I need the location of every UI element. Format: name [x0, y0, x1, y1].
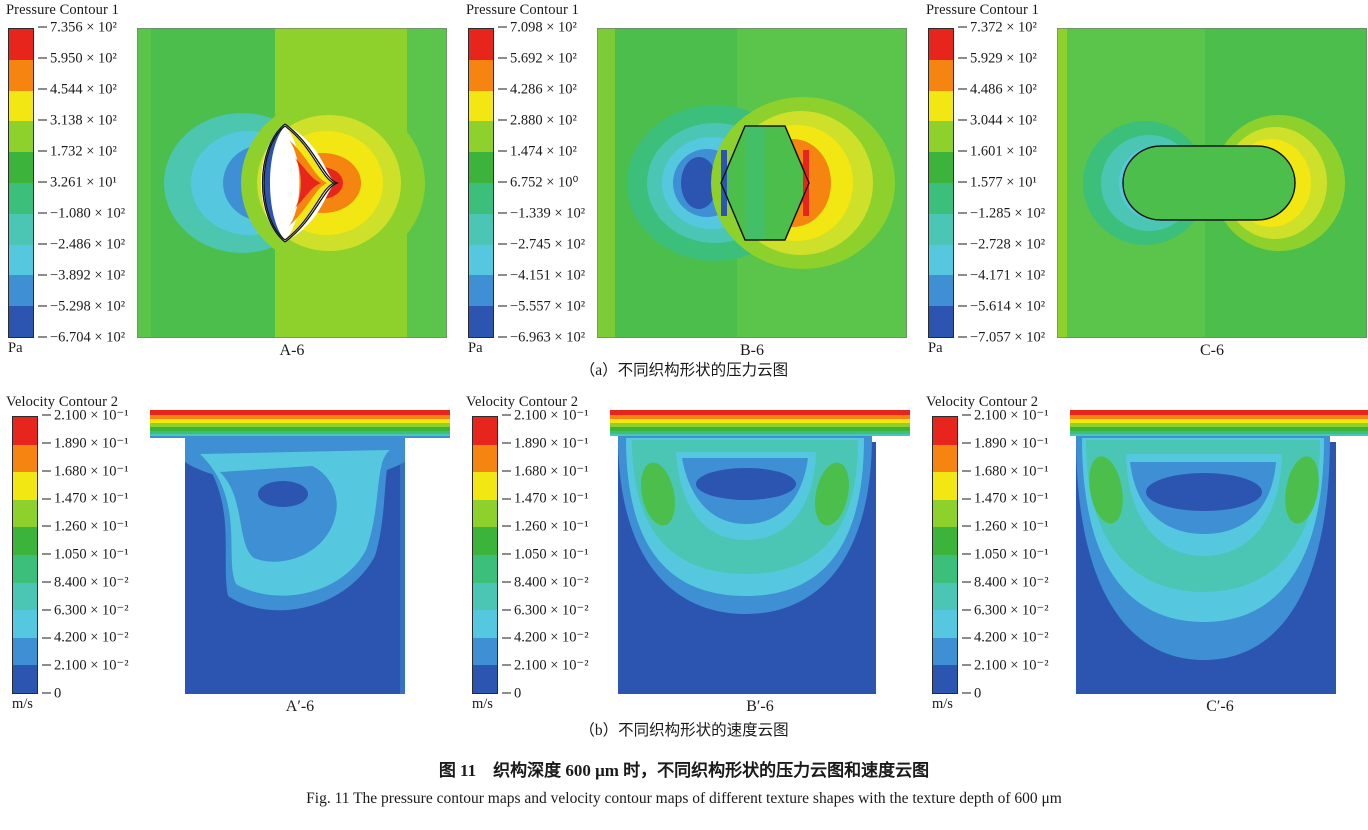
colorbar-tick: 7.098 × 10² — [510, 20, 577, 36]
colorbar-tick: −4.151 × 10² — [510, 268, 585, 284]
velocity-plot-a6 — [150, 406, 450, 696]
colorbar-tick: 3.138 × 10² — [50, 113, 117, 129]
colorbar-tick: 1.577 × 10¹ — [970, 175, 1037, 191]
colorbar-tick: 4.200 × 10⁻² — [514, 630, 589, 646]
colorbar-tick: 2.880 × 10² — [510, 113, 577, 129]
colorbar-tick: 2.100 × 10⁻¹ — [974, 408, 1049, 424]
colorbar-tick: 7.372 × 10² — [970, 20, 1037, 36]
colorbar-tick: 1.470 × 10⁻¹ — [514, 491, 589, 507]
colorbar-tick: 1.680 × 10⁻¹ — [974, 463, 1049, 479]
colorbar-tick: 4.544 × 10² — [50, 82, 117, 98]
colorbar-swatches — [468, 28, 494, 338]
row-caption-b: （b）不同织构形状的速度云图 — [0, 718, 1368, 740]
colorbar-tick: 0 — [514, 686, 521, 702]
sublabel-c-prime-6: C′-6 — [1070, 698, 1368, 716]
colorbar-tick: 1.890 × 10⁻¹ — [514, 435, 589, 451]
colorbar-tick: 0 — [974, 686, 981, 702]
colorbar-tick: 5.692 × 10² — [510, 51, 577, 67]
figure-caption-english: Fig. 11 The pressure contour maps and ve… — [0, 790, 1368, 808]
colorbar-tick: 1.470 × 10⁻¹ — [974, 491, 1049, 507]
colorbar-tick: 1.050 × 10⁻¹ — [54, 547, 129, 563]
colorbar-tick: −5.298 × 10² — [50, 299, 125, 315]
colorbar-tick: 1.050 × 10⁻¹ — [514, 547, 589, 563]
colorbar-tick: 8.400 × 10⁻² — [974, 574, 1049, 590]
colorbar-tick: 6.300 × 10⁻² — [514, 602, 589, 618]
colorbar-tick: 8.400 × 10⁻² — [514, 574, 589, 590]
colorbar-tick: 1.260 × 10⁻¹ — [974, 519, 1049, 535]
colorbar-tick: −6.963 × 10² — [510, 330, 585, 346]
colorbar-tick: 1.050 × 10⁻¹ — [974, 547, 1049, 563]
contour-plot-c6 — [1057, 28, 1367, 338]
colorbar-tick: 2.100 × 10⁻² — [54, 658, 129, 674]
colorbar-tick: 3.044 × 10² — [970, 113, 1037, 129]
colorbar-unit: m/s — [472, 696, 493, 713]
colorbar-tick: 7.356 × 10² — [50, 20, 117, 36]
colorbar-tick: 4.200 × 10⁻² — [974, 630, 1049, 646]
colorbar-swatches — [12, 416, 38, 694]
colorbar-tick: −3.892 × 10² — [50, 268, 125, 284]
colorbar-tick: 2.100 × 10⁻¹ — [514, 408, 589, 424]
colorbar-tick: 3.261 × 10¹ — [50, 175, 117, 191]
colorbar-tick: −1.285 × 10² — [970, 206, 1045, 222]
colorbar-tick: 1.260 × 10⁻¹ — [54, 519, 129, 535]
colorbar-tick: 2.100 × 10⁻² — [974, 658, 1049, 674]
colorbar-swatches — [8, 28, 34, 338]
colorbar-tick: 4.200 × 10⁻² — [54, 630, 129, 646]
colorbar-tick: 5.929 × 10² — [970, 51, 1037, 67]
colorbar-swatches — [472, 416, 498, 694]
contour-plot-a6 — [137, 28, 447, 338]
colorbar-tick: −1.339 × 10² — [510, 206, 585, 222]
colorbar-tick: 1.890 × 10⁻¹ — [974, 435, 1049, 451]
velocity-plot-b6 — [610, 406, 910, 696]
colorbar-tick: 8.400 × 10⁻² — [54, 574, 129, 590]
colorbar-swatches — [928, 28, 954, 338]
row-caption-a: （a）不同织构形状的压力云图 — [0, 358, 1368, 380]
legend-title-pressure-b6: Pressure Contour 1 — [466, 2, 579, 19]
colorbar-unit: m/s — [12, 696, 33, 713]
colorbar-tick: 4.486 × 10² — [970, 82, 1037, 98]
colorbar-tick: 1.470 × 10⁻¹ — [54, 491, 129, 507]
sublabel-a-prime-6: A′-6 — [150, 698, 450, 716]
colorbar-tick: 1.890 × 10⁻¹ — [54, 435, 129, 451]
colorbar-tick: 1.601 × 10² — [970, 144, 1037, 160]
colorbar-tick: −2.745 × 10² — [510, 237, 585, 253]
colorbar-tick: 6.752 × 10⁰ — [510, 175, 578, 191]
colorbar-tick: 6.300 × 10⁻² — [974, 602, 1049, 618]
legend-title-pressure-c6: Pressure Contour 1 — [926, 2, 1039, 19]
colorbar-tick: 4.286 × 10² — [510, 82, 577, 98]
colorbar-tick: −2.486 × 10² — [50, 237, 125, 253]
colorbar-unit: Pa — [8, 340, 23, 357]
legend-title-pressure-a6: Pressure Contour 1 — [6, 2, 119, 19]
colorbar-unit: Pa — [468, 340, 483, 357]
figure-root: Pressure Contour 1 7.356 × 10² 5.950 × 1… — [0, 0, 1368, 830]
colorbar-unit: m/s — [932, 696, 953, 713]
contour-plot-b6 — [597, 28, 907, 338]
colorbar-tick: −2.728 × 10² — [970, 237, 1045, 253]
colorbar-tick: −6.704 × 10² — [50, 330, 125, 346]
colorbar-tick: 2.100 × 10⁻¹ — [54, 408, 129, 424]
colorbar-tick: 1.260 × 10⁻¹ — [514, 519, 589, 535]
colorbar-tick: −5.614 × 10² — [970, 299, 1045, 315]
colorbar-tick: −4.171 × 10² — [970, 268, 1045, 284]
colorbar-tick: 1.680 × 10⁻¹ — [514, 463, 589, 479]
colorbar-tick: 1.732 × 10² — [50, 144, 117, 160]
figure-caption-chinese: 图 11 织构深度 600 μm 时，不同织构形状的压力云图和速度云图 — [0, 756, 1368, 781]
colorbar-tick: 1.474 × 10² — [510, 144, 577, 160]
colorbar-tick: 6.300 × 10⁻² — [54, 602, 129, 618]
colorbar-unit: Pa — [928, 340, 943, 357]
colorbar-tick: −5.557 × 10² — [510, 299, 585, 315]
colorbar-swatches — [932, 416, 958, 694]
colorbar-tick: 5.950 × 10² — [50, 51, 117, 67]
colorbar-tick: −1.080 × 10² — [50, 206, 125, 222]
colorbar-tick: 2.100 × 10⁻² — [514, 658, 589, 674]
velocity-plot-c6 — [1070, 406, 1368, 696]
sublabel-b-prime-6: B′-6 — [610, 698, 910, 716]
colorbar-tick: 0 — [54, 686, 61, 702]
colorbar-tick: 1.680 × 10⁻¹ — [54, 463, 129, 479]
colorbar-tick: −7.057 × 10² — [970, 330, 1045, 346]
